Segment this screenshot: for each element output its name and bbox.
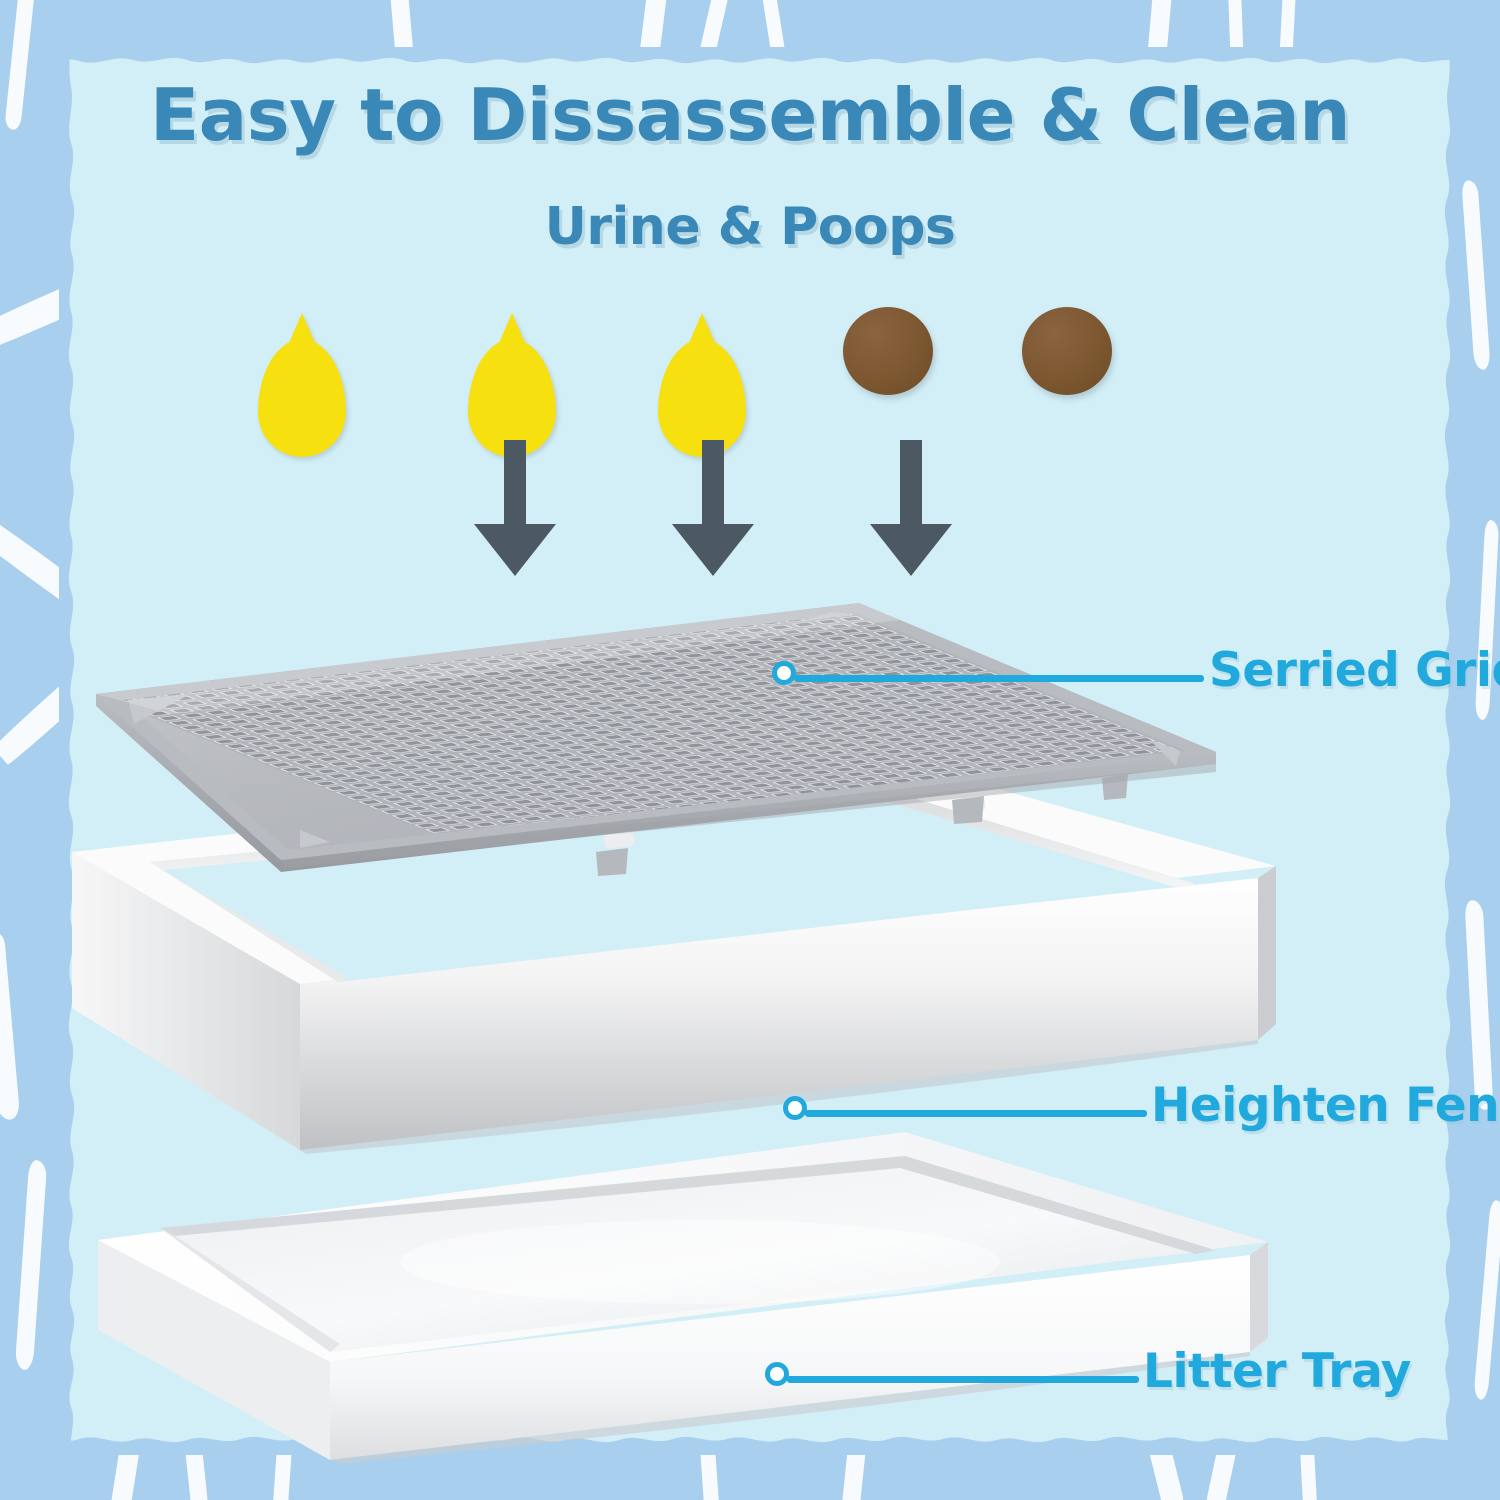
callout-marker-icon: [765, 1362, 789, 1386]
callout-leader-line: [787, 1376, 1139, 1383]
callout-leader-line: [805, 1110, 1147, 1117]
waste-icon-row: [0, 0, 1500, 1500]
callout-label-heighten-fence: Heighten Fence: [1151, 1078, 1500, 1133]
callout-leader-line: [794, 675, 1204, 682]
down-arrow-icon: [480, 440, 550, 580]
poop-dot-icon: [1022, 307, 1112, 395]
down-arrow-icon: [876, 440, 946, 580]
poop-dot-icon: [843, 307, 933, 395]
down-arrow-icon: [678, 440, 748, 580]
callout-marker-icon: [783, 1096, 807, 1120]
callout-label-litter-tray: Litter Tray: [1143, 1344, 1411, 1399]
urine-drop-icon: [258, 339, 346, 457]
callout-label-serried-grid: Serried Grid: [1209, 643, 1500, 698]
callout-marker-icon: [772, 661, 796, 685]
product-infographic: Easy to Dissassemble & Clean Urine & Poo…: [0, 0, 1500, 1500]
